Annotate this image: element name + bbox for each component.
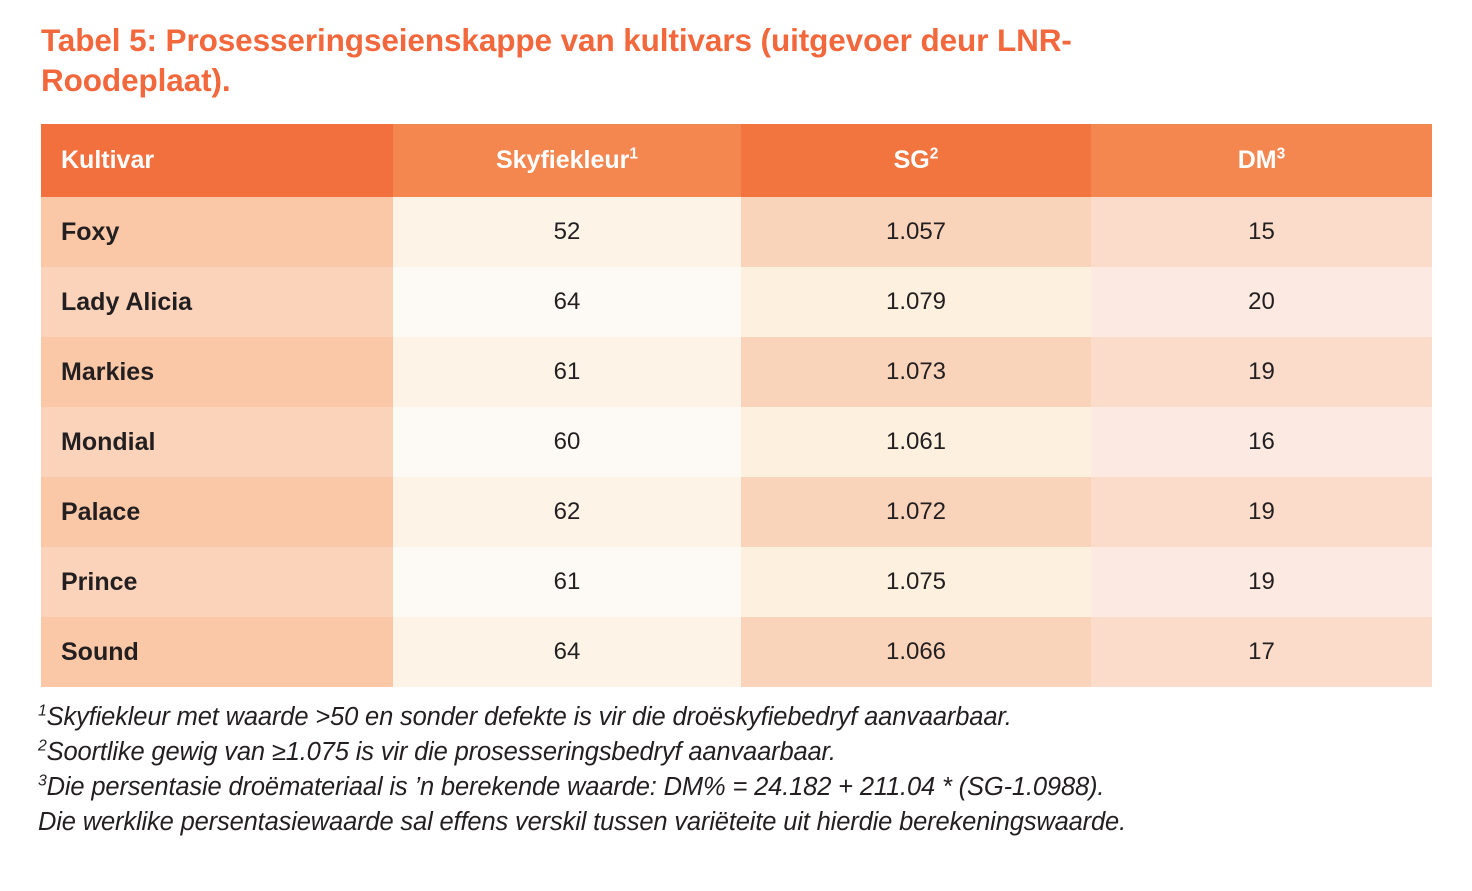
cell-skyfiekleur: 61 [393, 547, 741, 617]
cell-sg: 1.072 [741, 477, 1091, 547]
column-header-skyfiekleur-footnote-marker: 1 [629, 146, 638, 163]
footnote-3-continued-text: Die werklike persentasiewaarde sal effen… [38, 808, 1126, 836]
table-row: Prince 61 1.075 19 [41, 547, 1432, 617]
table-body: Foxy 52 1.057 15 Lady Alicia 64 1.079 20… [41, 197, 1432, 687]
footnote-3-marker: 3 [38, 773, 47, 790]
table-row: Palace 62 1.072 19 [41, 477, 1432, 547]
column-header-dm: DM3 [1091, 124, 1432, 197]
column-header-skyfiekleur-label: Skyfiekleur [496, 146, 629, 174]
cell-sg: 1.073 [741, 337, 1091, 407]
cell-skyfiekleur: 64 [393, 617, 741, 687]
cell-skyfiekleur: 61 [393, 337, 741, 407]
processing-properties-table: Kultivar Skyfiekleur1 SG2 DM3 Foxy 52 1.… [41, 124, 1432, 687]
cell-kultivar: Lady Alicia [41, 267, 393, 337]
column-header-kultivar: Kultivar [41, 124, 393, 197]
table-row: Lady Alicia 64 1.079 20 [41, 267, 1432, 337]
footnote-3-continued: Die werklike persentasiewaarde sal effen… [38, 805, 1438, 840]
cell-dm: 16 [1091, 407, 1432, 477]
table-header: Kultivar Skyfiekleur1 SG2 DM3 [41, 124, 1432, 197]
footnote-1-text: Skyfiekleur met waarde >50 en sonder def… [47, 703, 1012, 731]
cell-dm: 15 [1091, 197, 1432, 267]
cell-kultivar: Sound [41, 617, 393, 687]
cell-kultivar: Prince [41, 547, 393, 617]
page-title: Tabel 5: Prosesseringseienskappe van kul… [41, 20, 1221, 100]
cell-kultivar: Mondial [41, 407, 393, 477]
column-header-skyfiekleur: Skyfiekleur1 [393, 124, 741, 197]
column-header-sg: SG2 [741, 124, 1091, 197]
footnote-2: 2Soortlike gewig van ≥1.075 is vir die p… [38, 735, 1438, 770]
column-header-kultivar-label: Kultivar [61, 146, 154, 174]
footnote-3-text: Die persentasie droëmateriaal is ’n bere… [47, 773, 1105, 801]
cell-kultivar: Markies [41, 337, 393, 407]
table-page: Tabel 5: Prosesseringseienskappe van kul… [0, 0, 1472, 891]
column-header-dm-footnote-marker: 3 [1277, 146, 1286, 163]
column-header-dm-label: DM [1238, 146, 1277, 174]
column-header-sg-label: SG [894, 146, 930, 174]
table-row: Sound 64 1.066 17 [41, 617, 1432, 687]
cell-sg: 1.061 [741, 407, 1091, 477]
column-header-sg-footnote-marker: 2 [930, 146, 939, 163]
cell-dm: 20 [1091, 267, 1432, 337]
cell-skyfiekleur: 60 [393, 407, 741, 477]
cell-sg: 1.057 [741, 197, 1091, 267]
cell-skyfiekleur: 62 [393, 477, 741, 547]
footnote-1: 1Skyfiekleur met waarde >50 en sonder de… [38, 700, 1438, 735]
cell-skyfiekleur: 64 [393, 267, 741, 337]
cell-skyfiekleur: 52 [393, 197, 741, 267]
cell-sg: 1.079 [741, 267, 1091, 337]
footnote-3: 3Die persentasie droëmateriaal is ’n ber… [38, 770, 1438, 805]
cell-dm: 17 [1091, 617, 1432, 687]
table-row: Mondial 60 1.061 16 [41, 407, 1432, 477]
cell-kultivar: Foxy [41, 197, 393, 267]
footnotes: 1Skyfiekleur met waarde >50 en sonder de… [38, 700, 1438, 840]
cell-dm: 19 [1091, 477, 1432, 547]
cell-sg: 1.066 [741, 617, 1091, 687]
cell-dm: 19 [1091, 547, 1432, 617]
footnote-2-marker: 2 [38, 738, 47, 755]
footnote-2-text: Soortlike gewig van ≥1.075 is vir die pr… [47, 738, 836, 766]
table-row: Foxy 52 1.057 15 [41, 197, 1432, 267]
cell-sg: 1.075 [741, 547, 1091, 617]
header-row: Kultivar Skyfiekleur1 SG2 DM3 [41, 124, 1432, 197]
cell-kultivar: Palace [41, 477, 393, 547]
cell-dm: 19 [1091, 337, 1432, 407]
footnote-1-marker: 1 [38, 703, 47, 720]
table-row: Markies 61 1.073 19 [41, 337, 1432, 407]
